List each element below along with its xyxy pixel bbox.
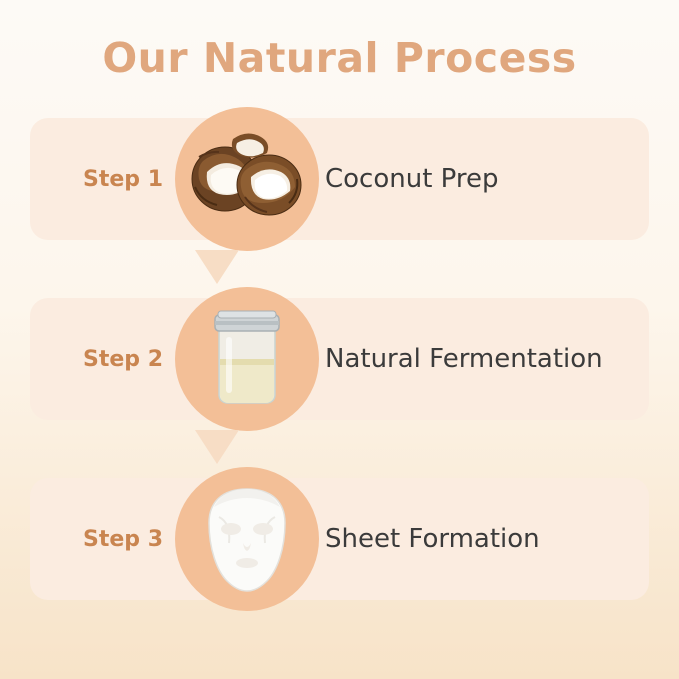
list-item[interactable]: Step 3	[30, 478, 649, 600]
coconut-halves-icon	[185, 117, 309, 241]
fermentation-jar-icon	[185, 297, 309, 421]
page-title: Our Natural Process	[0, 34, 679, 82]
connector-1	[0, 240, 679, 298]
step-icon-circle	[175, 287, 319, 431]
list-item[interactable]: Step 1	[30, 118, 649, 240]
steps-list: Step 1	[0, 118, 679, 600]
step-icon-circle	[175, 467, 319, 611]
step-text: Coconut Prep	[325, 118, 499, 240]
process-diagram: Our Natural Process Step 1	[0, 0, 679, 679]
step-text: Natural Fermentation	[325, 298, 603, 420]
chevron-down-icon	[195, 430, 239, 468]
step-icon-circle	[175, 107, 319, 251]
step-text: Sheet Formation	[325, 478, 540, 600]
list-item[interactable]: Step 2	[30, 298, 649, 420]
chevron-down-icon	[195, 250, 239, 288]
sheet-mask-icon	[185, 477, 309, 601]
connector-2	[0, 420, 679, 478]
